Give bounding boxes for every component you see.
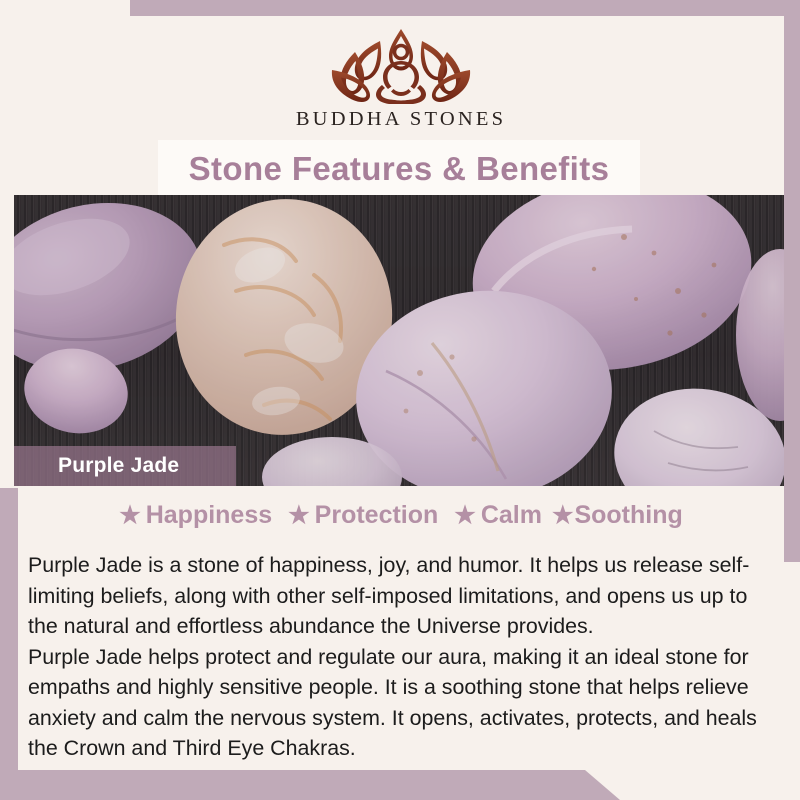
infographic-page: BUDDHA STONES Stone Features & Benefits <box>0 0 800 800</box>
page-title: Stone Features & Benefits <box>189 150 610 188</box>
frame-band-left <box>0 488 18 800</box>
star-icon: ★ <box>288 504 310 528</box>
benefit-label: Protection <box>315 501 439 530</box>
stone-photo: Purple Jade <box>14 195 784 486</box>
benefit-item-happiness: ★ Happiness <box>119 501 272 530</box>
content-card: BUDDHA STONES Stone Features & Benefits <box>18 16 784 770</box>
stone-description: Purple Jade is a stone of happiness, joy… <box>28 550 780 764</box>
description-paragraph-2: Purple Jade helps protect and regulate o… <box>28 642 780 764</box>
benefits-list: ★ Happiness ★ Protection ★ Calm ★ Soothi… <box>18 501 784 530</box>
description-paragraph-1: Purple Jade is a stone of happiness, joy… <box>28 550 780 642</box>
benefit-item-soothing: ★ Soothing <box>552 501 683 530</box>
star-icon: ★ <box>454 504 476 528</box>
frame-band-top <box>130 0 800 16</box>
lotus-meditation-icon <box>316 26 486 104</box>
benefit-label: Happiness <box>146 501 272 530</box>
frame-band-right <box>784 0 800 562</box>
benefit-item-calm: ★ Calm <box>454 501 542 530</box>
frame-band-bottom <box>0 770 620 800</box>
brand-name: BUDDHA STONES <box>296 108 506 131</box>
title-banner: Stone Features & Benefits <box>158 140 640 198</box>
star-icon: ★ <box>552 504 574 528</box>
stone-name-label: Purple Jade <box>14 454 179 478</box>
brand-logo: BUDDHA STONES <box>18 16 784 144</box>
stone-name-tag: Purple Jade <box>14 446 236 486</box>
benefit-label: Soothing <box>574 501 682 530</box>
benefit-label: Calm <box>481 501 542 530</box>
star-icon: ★ <box>119 504 141 528</box>
benefit-item-protection: ★ Protection <box>288 501 438 530</box>
stone-photo-illustration <box>14 195 784 486</box>
